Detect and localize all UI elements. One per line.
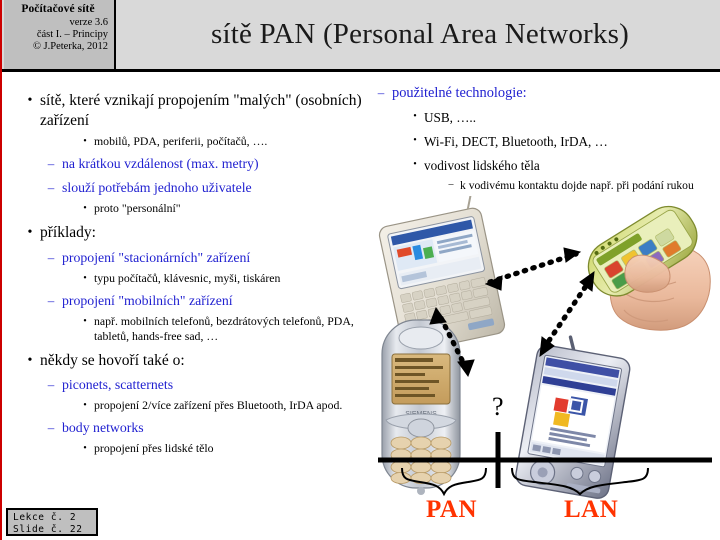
bullet-text: mobilů, PDA, periferii, počítačů, …. — [94, 134, 372, 149]
bullet-text: k vodivému kontaktu dojde např. při podá… — [460, 178, 710, 193]
bullet-item: – propojení "mobilních" zařízení — [20, 292, 372, 310]
bullet-marker: • — [76, 441, 94, 456]
bullet-text: příklady: — [40, 223, 372, 243]
pda-pocket-pc-icon — [514, 332, 633, 500]
bullet-text: vodivost lidského těla — [424, 157, 710, 174]
bullet-text: propojení "stacionárních" zařízení — [62, 249, 372, 267]
bullet-marker: • — [406, 109, 424, 124]
course-version: verze 3.6 — [8, 17, 108, 29]
bullet-marker: – — [40, 155, 62, 173]
bullet-marker: • — [406, 133, 424, 148]
bullet-item: • např. mobilních telefonů, bezdrátových… — [20, 314, 372, 344]
bullet-marker: • — [76, 134, 94, 149]
bullet-marker: • — [20, 351, 40, 370]
arrow-organizer-to-green-handheld — [486, 248, 580, 290]
bullet-text: použitelné technologie: — [392, 84, 710, 102]
bullet-item: • vodivost lidského těla — [370, 157, 710, 174]
bullet-item: • propojení 2/více zařízení přes Bluetoo… — [20, 398, 372, 413]
course-copyright: © J.Peterka, 2012 — [8, 41, 108, 53]
bullet-text: propojení přes lidské tělo — [94, 441, 372, 456]
bullet-marker: • — [76, 398, 94, 413]
bullet-item: – body networks — [20, 419, 372, 437]
bullet-marker: – — [442, 178, 460, 192]
bullet-text: na krátkou vzdálenost (max. metry) — [62, 155, 372, 173]
course-title: Počítačové sítě — [8, 3, 108, 17]
bullet-item: • příklady: — [20, 223, 372, 243]
slide-footer-box: Lekce č. 2 Slide č. 22 — [6, 508, 98, 536]
bullet-item: – slouží potřebám jednoho uživatele — [20, 179, 372, 197]
bullet-marker: • — [406, 157, 424, 172]
bullet-item: • USB, ….. — [370, 109, 710, 126]
bullet-item: – na krátkou vzdálenost (max. metry) — [20, 155, 372, 173]
bullet-marker: – — [40, 249, 62, 267]
footer-slide: Slide č. 22 — [13, 524, 96, 536]
page-title: sítě PAN (Personal Area Networks) — [122, 0, 718, 69]
footer-lecture: Lekce č. 2 — [13, 512, 96, 524]
bullet-marker: – — [40, 419, 62, 437]
bullet-item: • Wi-Fi, DECT, Bluetooth, IrDA, … — [370, 133, 710, 150]
bullet-text: někdy se hovoří také o: — [40, 351, 372, 371]
bullet-marker: • — [20, 91, 40, 110]
bullet-text: propojení 2/více zařízení přes Bluetooth… — [94, 398, 372, 413]
bullet-marker: • — [20, 223, 40, 242]
slide-canvas: Počítačové sítě verze 3.6 část I. – Prin… — [0, 0, 720, 540]
bullet-text: proto "personální" — [94, 201, 372, 216]
bullet-marker: • — [76, 314, 94, 329]
bullet-text: Wi-Fi, DECT, Bluetooth, IrDA, … — [424, 133, 710, 150]
bullet-text: slouží potřebám jednoho uživatele — [62, 179, 372, 197]
bullet-text: propojení "mobilních" zařízení — [62, 292, 372, 310]
lan-label: LAN — [564, 496, 618, 524]
mobile-phone-icon: SIEMENS — [382, 320, 460, 495]
course-info-box: Počítačové sítě verze 3.6 část I. – Prin… — [4, 0, 116, 69]
bullet-item: – piconets, scatternets — [20, 376, 372, 394]
bullet-item: • proto "personální" — [20, 201, 372, 216]
course-part: část I. – Principy — [8, 29, 108, 41]
bullet-item: • typu počítačů, klávesnic, myši, tiskár… — [20, 271, 372, 286]
bullet-text: body networks — [62, 419, 372, 437]
right-bullet-column: – použitelné technologie: • USB, ….. • W… — [370, 84, 710, 193]
pan-lan-diagram: SIEMENS — [368, 196, 720, 540]
bullet-marker: – — [40, 179, 62, 197]
bullet-item: – k vodivému kontaktu dojde např. při po… — [370, 178, 710, 193]
bullet-text: USB, ….. — [424, 109, 710, 126]
bullet-text: piconets, scatternets — [62, 376, 372, 394]
bullet-marker: – — [40, 292, 62, 310]
bullet-item: • někdy se hovoří také o: — [20, 351, 372, 371]
bullet-marker: • — [76, 201, 94, 216]
question-mark-label: ? — [492, 392, 504, 422]
pan-label: PAN — [426, 496, 477, 524]
slide-header: Počítačové sítě verze 3.6 část I. – Prin… — [2, 0, 720, 72]
bullet-item: • sítě, které vznikají propojením "malýc… — [20, 91, 372, 130]
bullet-marker: – — [40, 376, 62, 394]
bullet-item: – použitelné technologie: — [370, 84, 710, 102]
left-bullet-column: • sítě, které vznikají propojením "malýc… — [20, 84, 372, 456]
bullet-item: – propojení "stacionárních" zařízení — [20, 249, 372, 267]
bullet-text: např. mobilních telefonů, bezdrátových t… — [94, 314, 372, 344]
bullet-marker: • — [76, 271, 94, 286]
green-handheld-in-hand-icon — [579, 197, 711, 330]
bullet-item: • propojení přes lidské tělo — [20, 441, 372, 456]
arrow-pda-to-green-handheld — [540, 272, 594, 356]
bullet-text: typu počítačů, klávesnic, myši, tiskáren — [94, 271, 372, 286]
bullet-marker: – — [370, 84, 392, 102]
bullet-item: • mobilů, PDA, periferii, počítačů, …. — [20, 134, 372, 149]
bullet-text: sítě, které vznikají propojením "malých"… — [40, 91, 372, 130]
